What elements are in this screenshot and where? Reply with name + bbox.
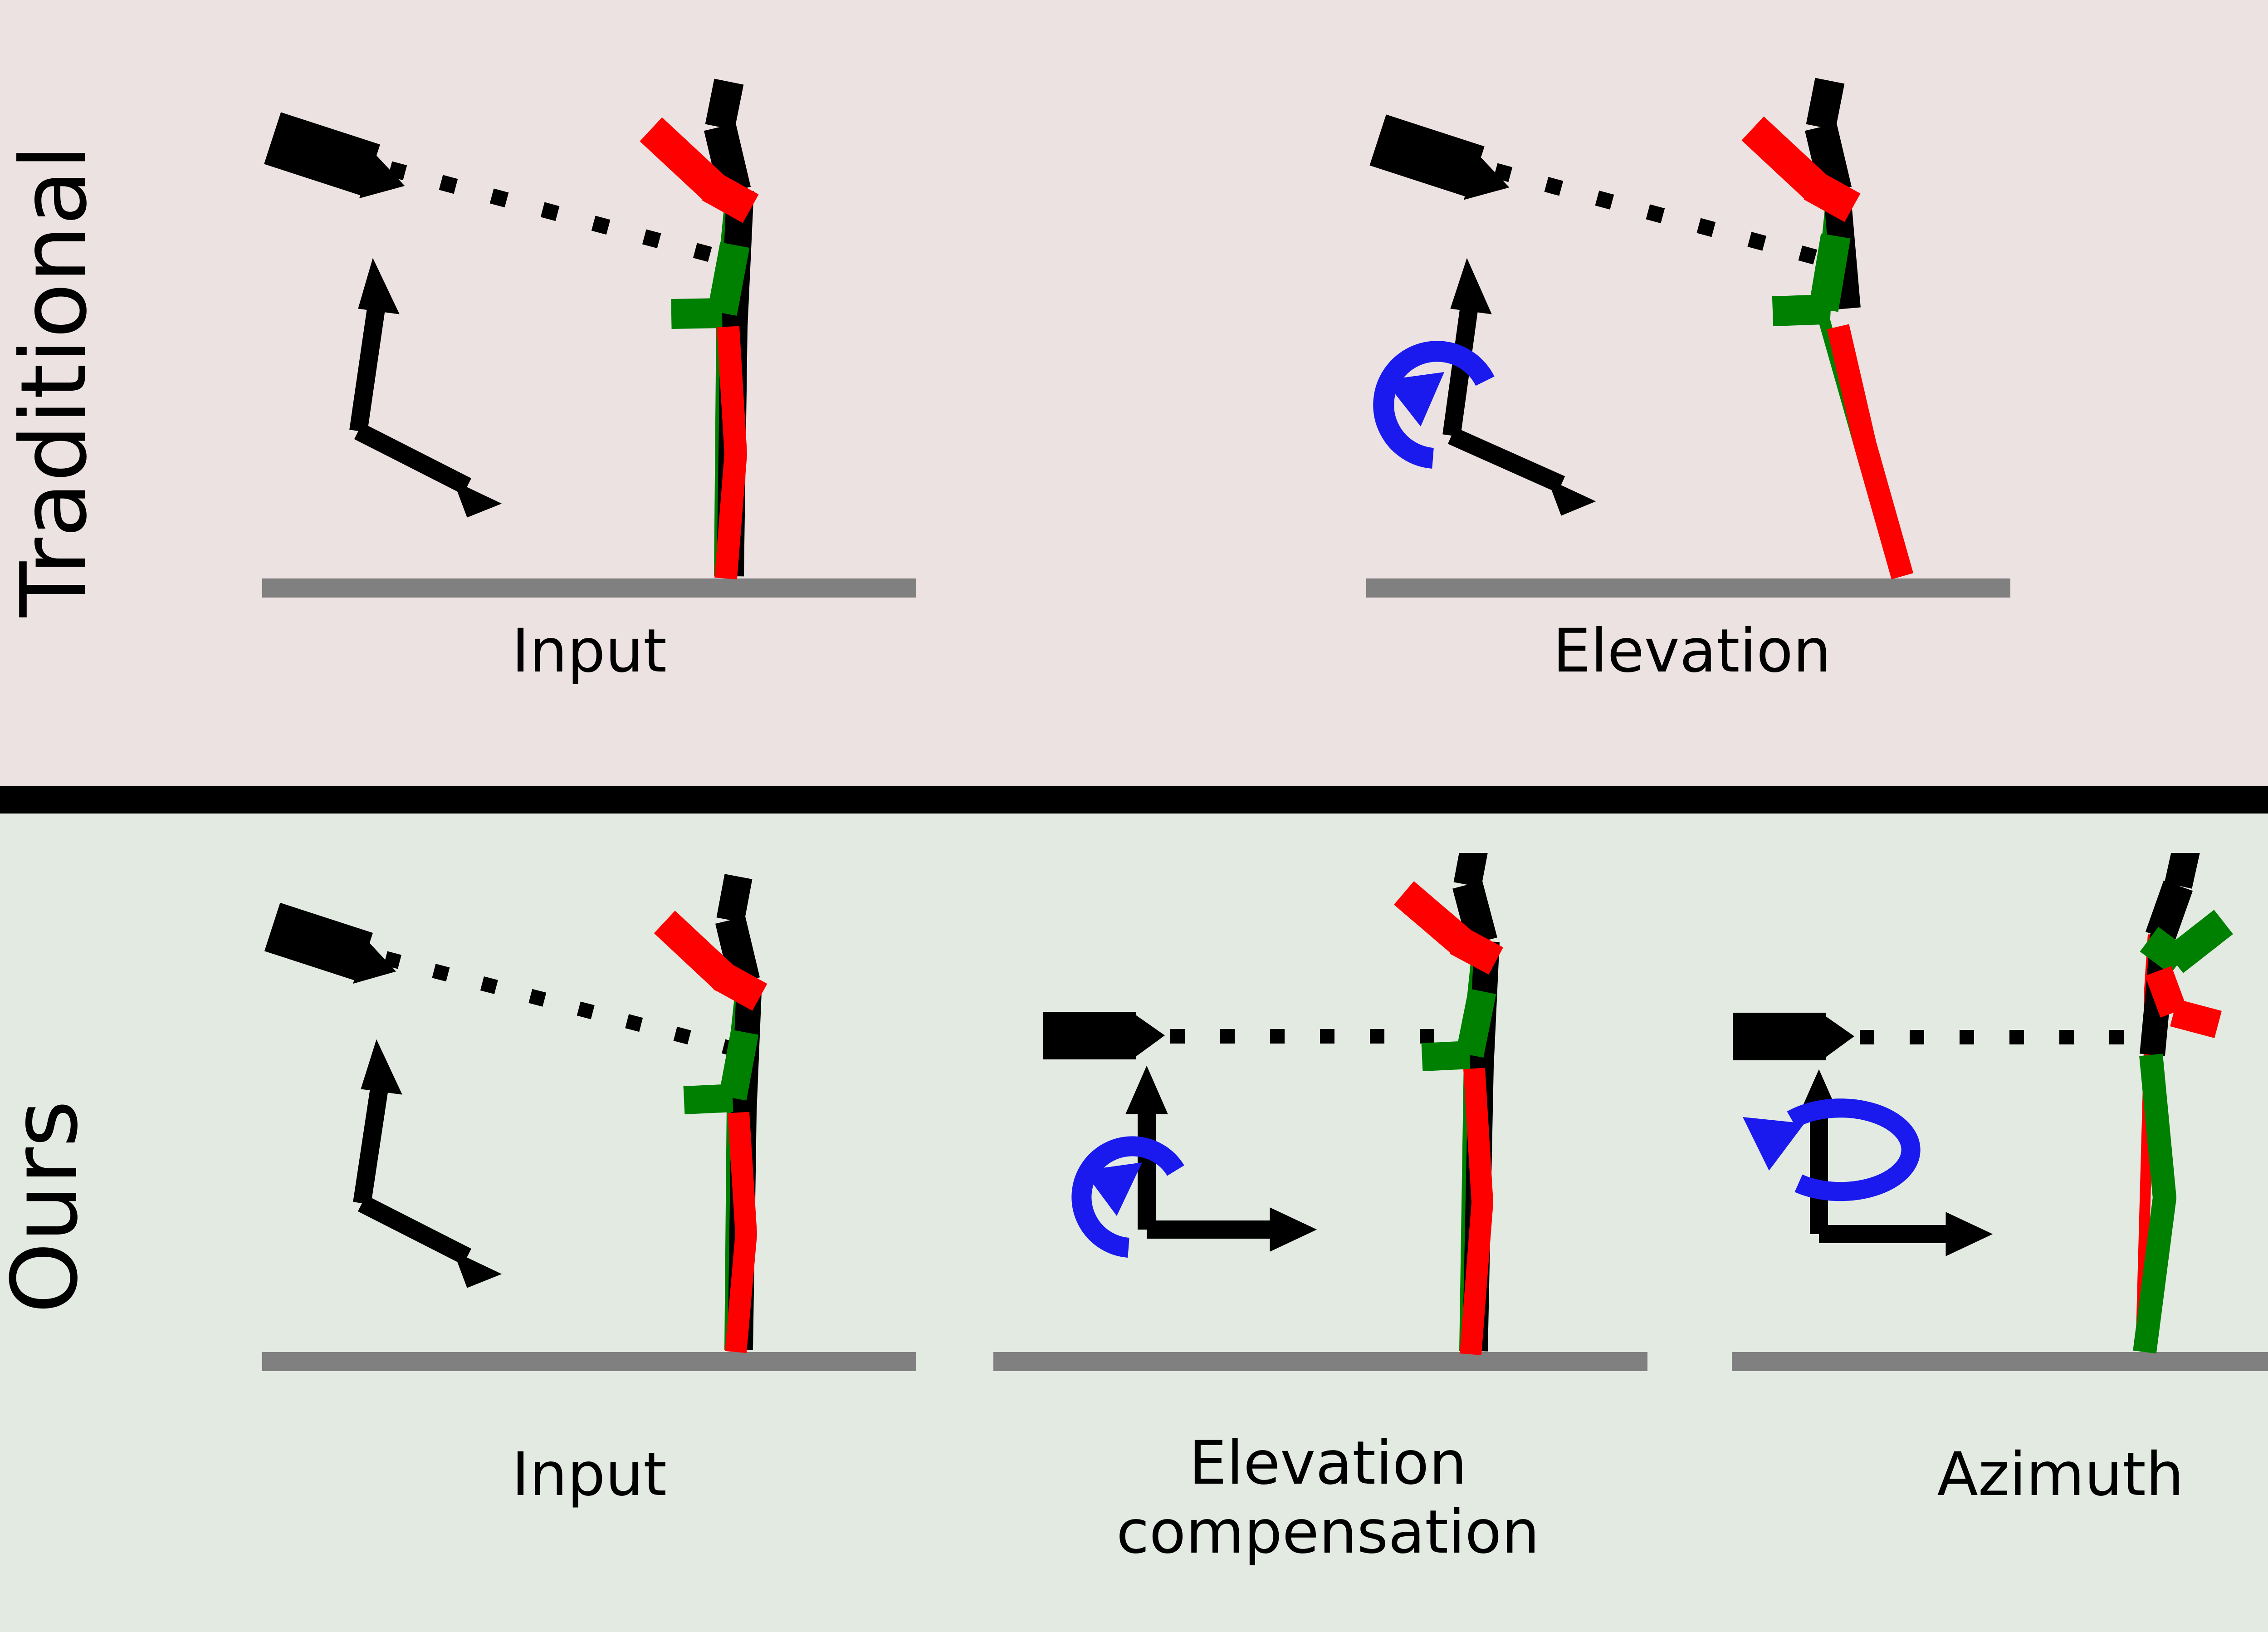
row-label-ours: Ours (0, 980, 91, 1434)
panel-caption-traditional-input: Input (262, 617, 916, 686)
stick-figure-skeleton (1404, 853, 1496, 1354)
video-camera-icon (1043, 1012, 1165, 1059)
figure-root: Traditional Ours (0, 0, 2268, 1632)
dotted-sight-line (1496, 171, 1824, 260)
panel-traditional-input (254, 54, 934, 608)
ground-plane-bar (262, 1352, 916, 1371)
video-camera-icon (264, 903, 403, 995)
panel-ours-azimuth-graphic (1724, 853, 2268, 1388)
panel-caption-ours-azimuth: Azimuth (1737, 1441, 2268, 1509)
stick-figure-skeleton (2141, 853, 2224, 1352)
coordinate-axes-icon (358, 259, 501, 517)
panel-caption-ours-input: Input (262, 1441, 916, 1509)
stick-figure-skeleton (1753, 81, 1902, 576)
stick-figure-skeleton (651, 82, 751, 578)
coordinate-axes-icon (1798, 1070, 1992, 1256)
video-camera-icon (1369, 114, 1516, 212)
ground-plane-bar (262, 578, 916, 598)
ground-plane-bar (1732, 1352, 2268, 1371)
panel-traditional-input-graphic (254, 54, 934, 608)
row-divider (0, 786, 2268, 814)
panel-traditional-elevation-graphic (1366, 54, 2028, 608)
ground-plane-bar (1366, 578, 2010, 598)
panel-caption-ours-elevation-compensation: Elevation compensation (1000, 1429, 1656, 1567)
panel-ours-azimuth (1724, 853, 2268, 1388)
panel-caption-traditional-elevation: Elevation (1374, 617, 2009, 686)
panel-ours-input (254, 853, 934, 1388)
coordinate-axes-icon (361, 1040, 501, 1288)
dotted-sight-line (386, 958, 730, 1048)
stick-figure-skeleton (665, 877, 760, 1352)
panel-traditional-elevation (1366, 54, 2028, 608)
dotted-sight-line (390, 169, 726, 259)
video-camera-icon (1733, 1013, 1854, 1060)
panel-ours-input-graphic (254, 853, 934, 1388)
row-label-traditional: Traditional (9, 163, 100, 617)
panel-ours-elevcomp-graphic (993, 853, 1665, 1388)
video-camera-icon (264, 112, 412, 211)
coordinate-axes-icon (1451, 259, 1595, 515)
ground-plane-bar (993, 1352, 1647, 1371)
panel-ours-elevation-compensation (993, 853, 1665, 1388)
